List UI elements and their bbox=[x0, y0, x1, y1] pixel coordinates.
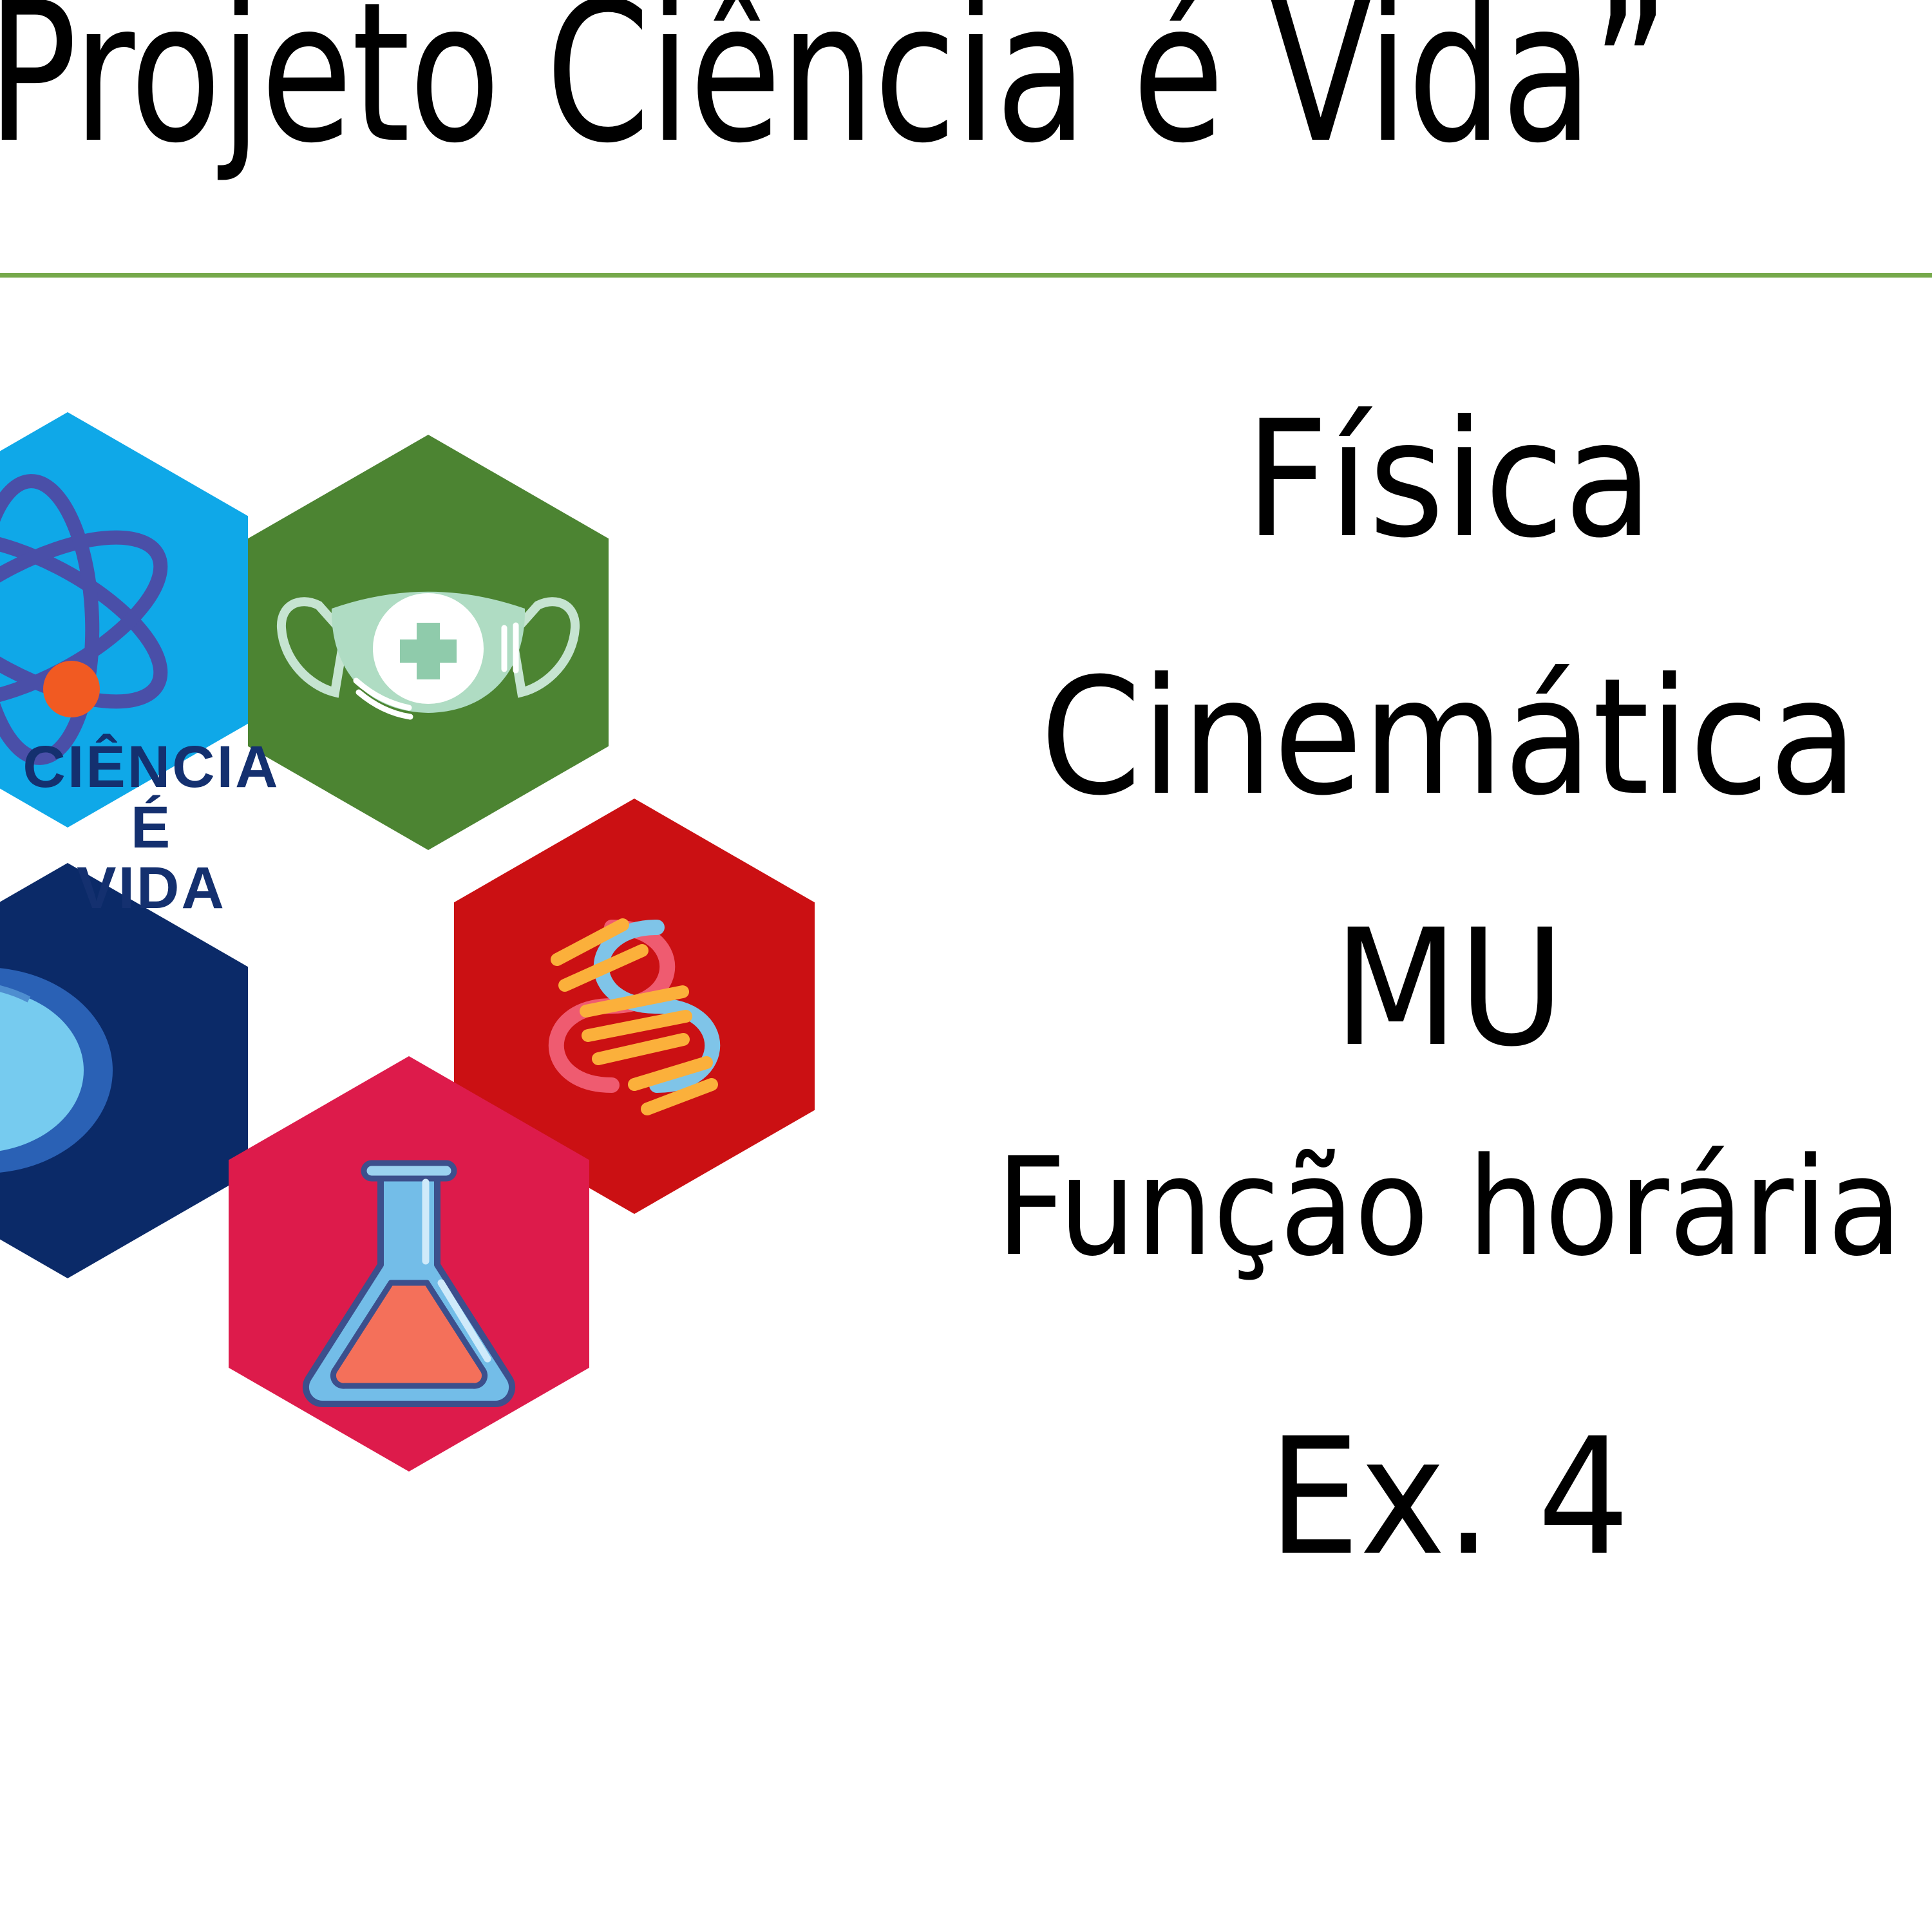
body-line-mu: MU bbox=[966, 908, 1932, 1069]
body-line-fisica: Física bbox=[966, 399, 1932, 560]
page-title: Projeto Ciência é Vida” bbox=[0, 0, 1668, 170]
slide-canvas: Projeto Ciência é Vida” bbox=[0, 0, 1932, 1932]
cell-icon bbox=[0, 863, 248, 1278]
logo-wordmark-line-1: CIÊNCIA bbox=[0, 737, 345, 798]
hexagon-cell bbox=[0, 863, 248, 1278]
body-line-cinematica: Cinemática bbox=[966, 657, 1932, 818]
ciencia-e-vida-logo: CIÊNCIA É VIDA bbox=[0, 412, 609, 1687]
title-bar: Projeto Ciência é Vida” bbox=[0, 0, 1932, 275]
body-line-funcao-horaria: Função horária bbox=[966, 1140, 1932, 1275]
title-divider-rule bbox=[0, 273, 1932, 278]
body-text-block: Física Cinemática MU Função horária Ex. … bbox=[966, 399, 1932, 1932]
body-line-exercicio: Ex. 4 bbox=[966, 1417, 1932, 1578]
logo-wordmark: CIÊNCIA É VIDA bbox=[0, 737, 345, 918]
logo-wordmark-line-2: É bbox=[0, 798, 345, 858]
logo-wordmark-line-3: VIDA bbox=[0, 858, 345, 919]
